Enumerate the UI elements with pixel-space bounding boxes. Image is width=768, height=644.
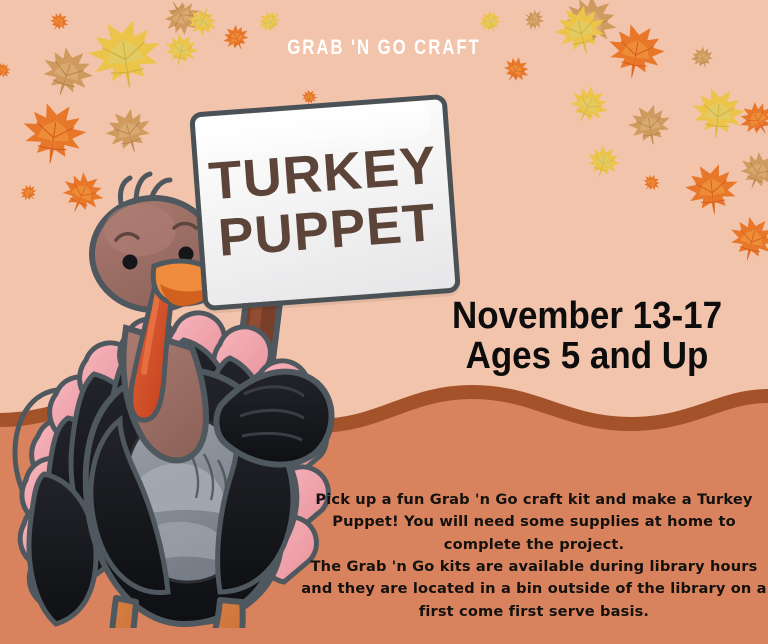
sign-title: TURKEY PUPPET [189, 94, 461, 311]
leaf-tan-5 [622, 96, 678, 157]
leaf-yellow-5 [557, 75, 619, 139]
leaf-yellow-6 [685, 79, 751, 150]
ages-line: Ages 5 and Up [432, 336, 743, 376]
turkey-eye-left [123, 255, 138, 270]
turkey-sign: TURKEY PUPPET [189, 94, 461, 311]
leaf-yellow-7 [579, 138, 627, 190]
leaf-mini-5 [634, 168, 665, 200]
body-copy: Pick up a fun Grab 'n Go craft kit and m… [300, 489, 768, 623]
leaf-mini-3 [0, 58, 15, 85]
kicker-text: GRAB 'N GO CRAFT [77, 36, 691, 60]
leaf-orange-8 [720, 207, 768, 275]
leaf-tan-6 [728, 142, 768, 204]
date-ages-block: November 13-17 Ages 5 and Up [418, 296, 756, 377]
body-paragraph-2: The Grab 'n Go kits are available during… [300, 556, 768, 623]
poster-canvas: GRAB 'N GO CRAFT TURKEY PUPPET November … [0, 0, 768, 644]
date-line: November 13-17 [432, 296, 743, 336]
leaf-tan-7 [513, 1, 550, 36]
leaf-mini-1 [42, 6, 75, 40]
leaf-orange-6 [679, 155, 745, 226]
leaf-orange-2 [13, 91, 95, 177]
leaf-tan-3 [96, 98, 162, 167]
body-paragraph-1: Pick up a fun Grab 'n Go craft kit and m… [300, 489, 768, 556]
leaf-orange-5 [729, 91, 768, 150]
